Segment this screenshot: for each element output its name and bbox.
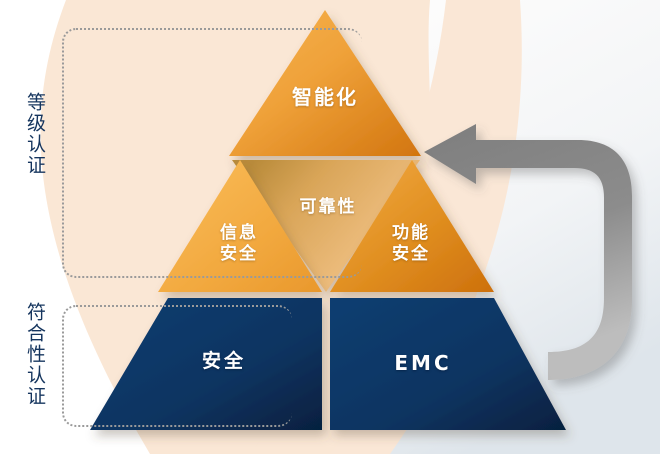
block-funcsafe-label: 功能 安全 (368, 222, 454, 265)
block-emc-label: EMC (368, 351, 478, 376)
block-smart-label: 智能化 (270, 86, 380, 111)
block-reliable-label: 可靠性 (278, 196, 378, 217)
side-label-compliance-certification: 符合性认证 (24, 302, 44, 407)
diagram-canvas: 等级认证 符合性认证 智能化 可靠性 信息 安全 功能 安全 安全 EMC (0, 0, 660, 454)
block-infosec-label: 信息 安全 (196, 222, 282, 265)
side-label-grade-certification: 等级认证 (24, 92, 44, 176)
block-safety-label: 安全 (176, 350, 272, 374)
